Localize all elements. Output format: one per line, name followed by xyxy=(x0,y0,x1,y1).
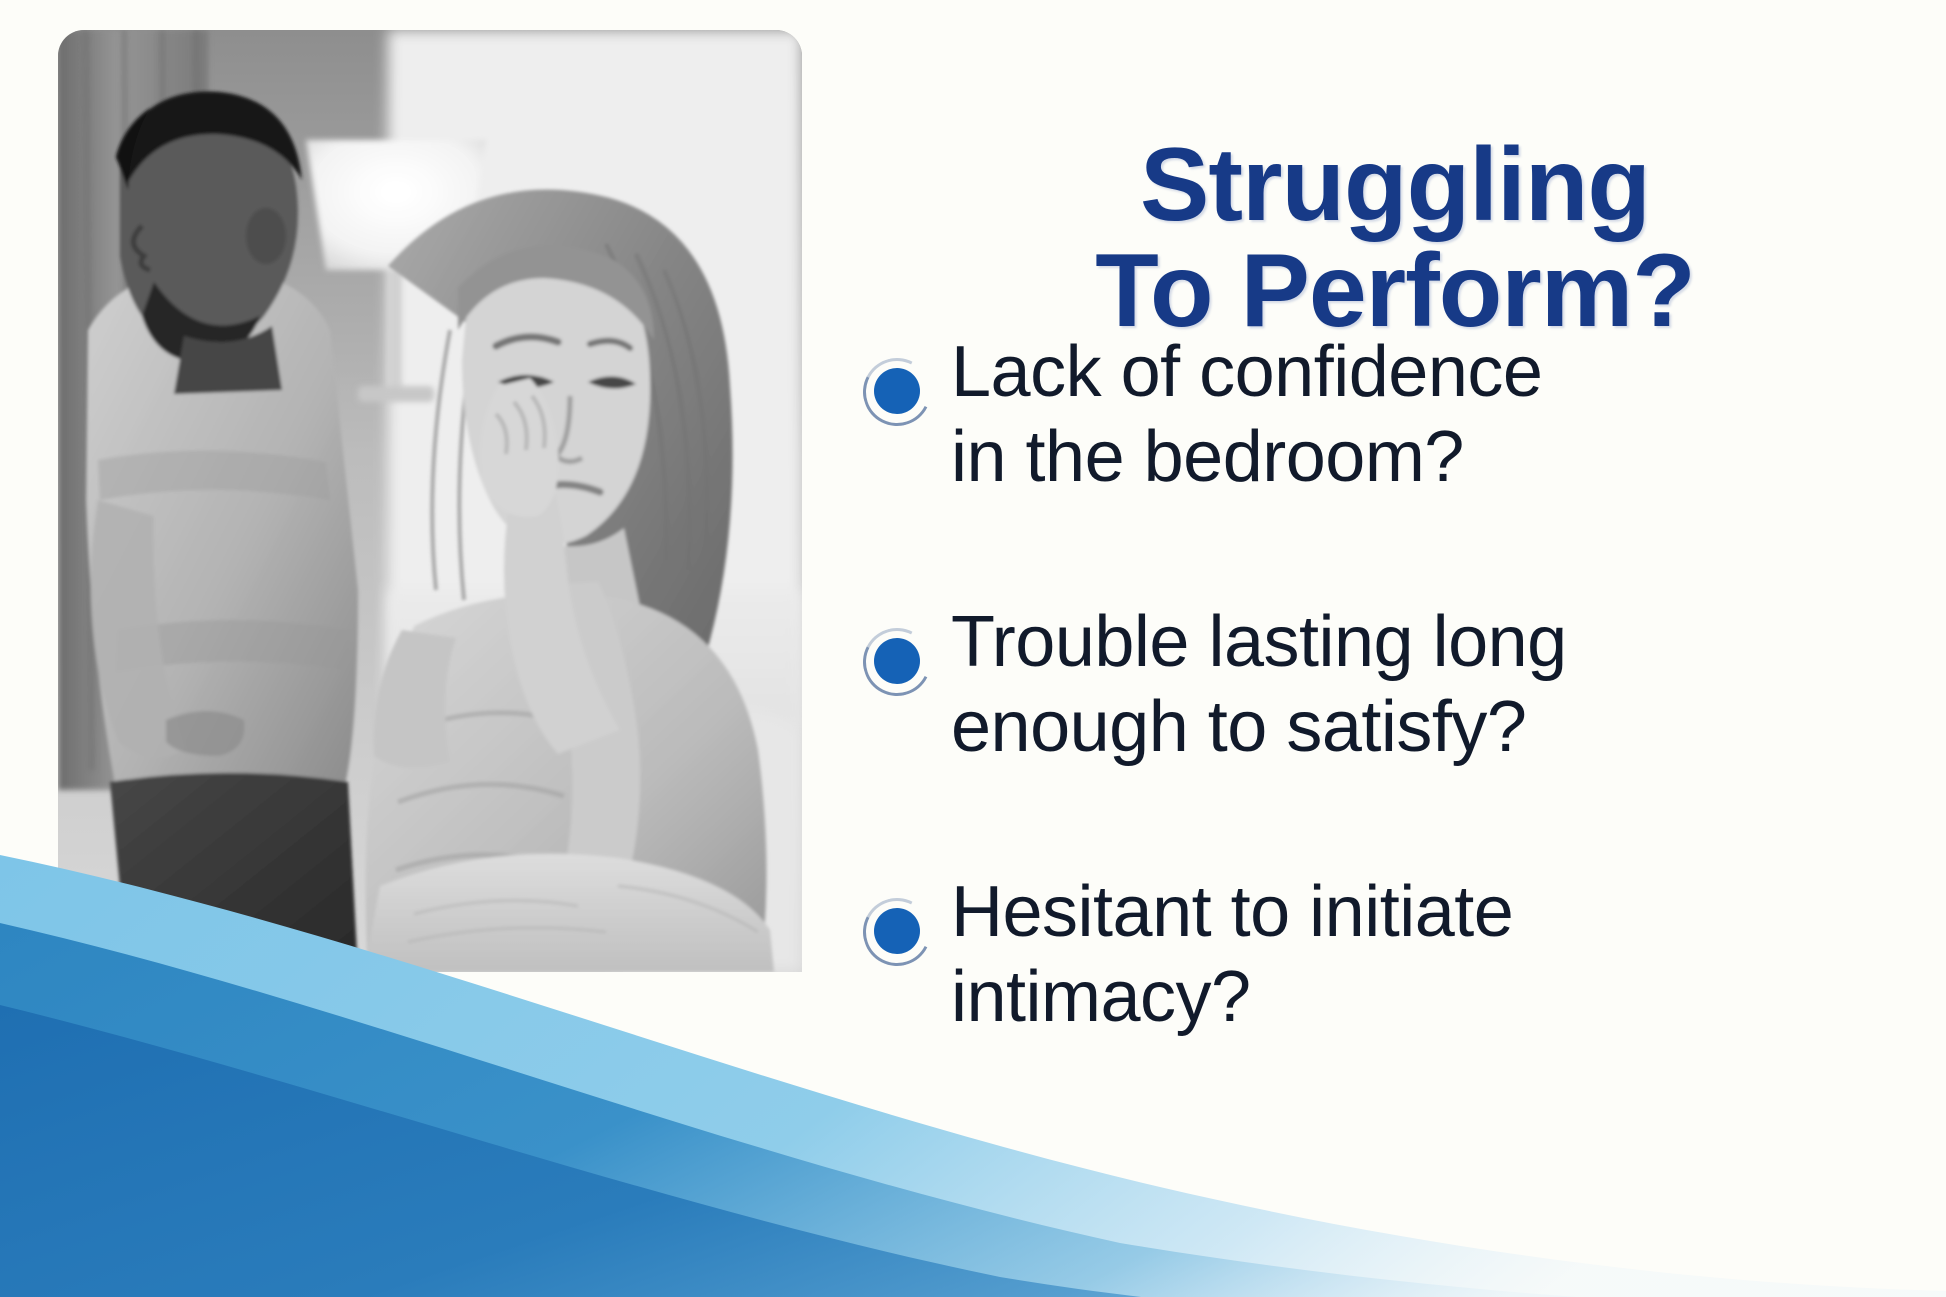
list-item-label: Lack of confidence in the bedroom? xyxy=(951,330,1946,500)
list-item: Hesitant to initiate intimacy? xyxy=(845,870,1946,1040)
bullet-dot xyxy=(874,638,920,684)
list-item-line-1: Hesitant to initiate xyxy=(951,870,1946,955)
blue-circle-arc-bullet-icon xyxy=(855,624,941,710)
couple-photo-panel xyxy=(58,30,802,972)
page-title: Struggling To Perform? xyxy=(865,132,1925,344)
headline-line-2: To Perform? xyxy=(865,238,1925,344)
bullet-dot xyxy=(874,368,920,414)
bullet-dot xyxy=(874,908,920,954)
headline-line-1: Struggling xyxy=(865,132,1925,238)
list-item-line-1: Trouble lasting long xyxy=(951,600,1946,685)
list-item: Trouble lasting long enough to satisfy? xyxy=(845,600,1946,770)
blue-circle-arc-bullet-icon xyxy=(855,354,941,440)
list-item-line-2: intimacy? xyxy=(951,955,1946,1040)
list-item-label: Hesitant to initiate intimacy? xyxy=(951,870,1946,1040)
list-item-line-2: in the bedroom? xyxy=(951,415,1946,500)
benefits-bullet-list: Lack of confidence in the bedroom? Troub… xyxy=(845,330,1946,1140)
list-item-line-2: enough to satisfy? xyxy=(951,685,1946,770)
list-item-label: Trouble lasting long enough to satisfy? xyxy=(951,600,1946,770)
list-item: Lack of confidence in the bedroom? xyxy=(845,330,1946,500)
blue-circle-arc-bullet-icon xyxy=(855,894,941,980)
text-content-panel: Struggling To Perform? Lack of confidenc… xyxy=(845,0,1946,1297)
slide-canvas: Struggling To Perform? Lack of confidenc… xyxy=(0,0,1946,1297)
list-item-line-1: Lack of confidence xyxy=(951,330,1946,415)
couple-photo-image xyxy=(58,30,802,972)
